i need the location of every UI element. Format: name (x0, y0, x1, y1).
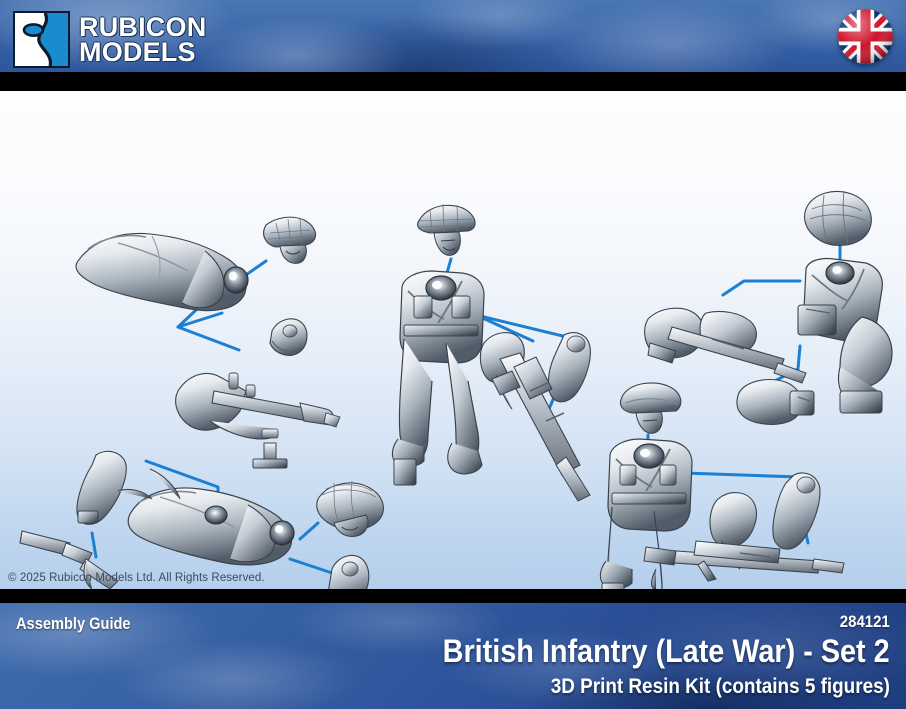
brand-logo: RUBICON MODELS (13, 11, 206, 68)
arm-right-trigger (773, 473, 820, 549)
copyright-notice: © 2025 Rubicon Models Ltd. All Rights Re… (8, 572, 265, 584)
parts-illustration-layer (0, 91, 906, 589)
assembly-guide-label: Assembly Guide (16, 614, 131, 634)
helmeted-head-plain (620, 383, 680, 433)
arms-with-rifle (645, 308, 806, 383)
footer-divider-band (0, 589, 906, 603)
prone-body-with-legs (76, 233, 248, 310)
arm-left-forward (737, 380, 814, 425)
figure-3-parts (645, 191, 892, 424)
arm-right-trigger (548, 333, 590, 402)
arm-right-gloved (328, 555, 369, 589)
page-header: RUBICON MODELS (0, 0, 906, 72)
arm-right-gloved (270, 319, 307, 356)
parts-diagram-canvas: © 2025 Rubicon Models Ltd. All Rights Re… (0, 91, 906, 589)
lee-enfield-rifle (644, 541, 844, 581)
kneeling-torso-legs (798, 258, 892, 413)
beret-head (805, 191, 872, 245)
union-jack-roundel-icon (838, 9, 893, 64)
piat-launcher-with-arms (176, 373, 340, 468)
kit-subtitle: 3D Print Resin Kit (contains 5 figures) (551, 675, 890, 699)
product-number: 284121 (840, 612, 890, 632)
assembly-guide-page: RUBICON MODELS (0, 0, 906, 709)
header-divider-band (0, 72, 906, 91)
figure-1-parts (76, 217, 340, 468)
rubicon-r-logo-icon (13, 11, 70, 68)
brand-name-line2: MODELS (79, 40, 206, 65)
helmeted-head-netted (418, 204, 475, 255)
arm-left-extended (77, 451, 126, 524)
kit-title: British Infantry (Late War) - Set 2 (443, 635, 890, 669)
standing-torso-legs (392, 271, 484, 485)
helmeted-head-netted (264, 217, 316, 263)
bare-head-hair (317, 481, 384, 537)
standing-torso-legs (600, 439, 692, 589)
page-footer: Assembly Guide 284121 British Infantry (… (0, 603, 906, 709)
brand-wordmark: RUBICON MODELS (79, 15, 206, 65)
figure-4-parts (20, 451, 383, 589)
figure-2-parts (392, 204, 590, 501)
